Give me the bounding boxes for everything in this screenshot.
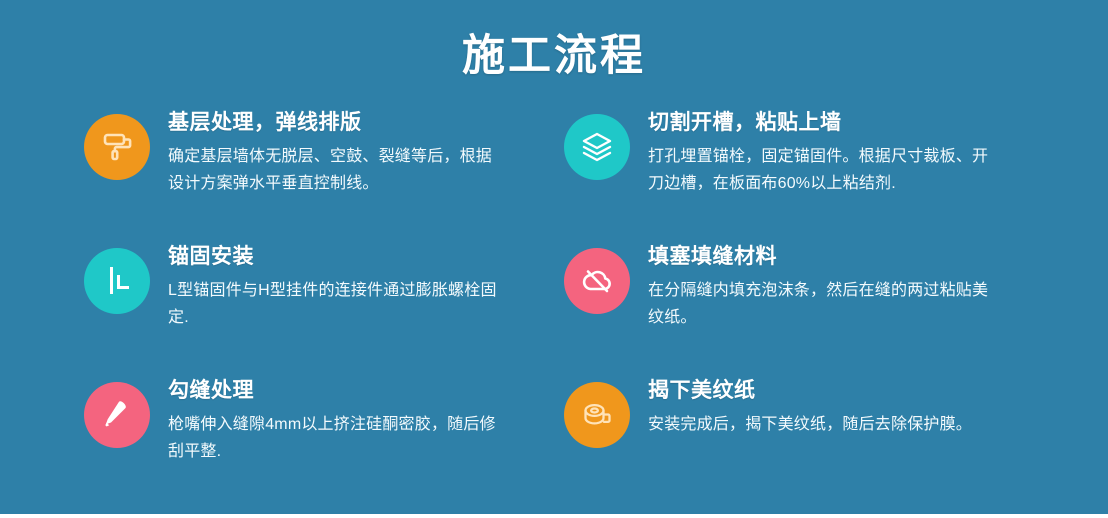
infographic-poster: 施工流程 基层处理，弹线排版 确定基层墙体无脱层、空鼓、裂缝等后，根据设计方案弹… (0, 0, 1108, 514)
step-2-desc: 打孔埋置锚栓，固定锚固件。根据尺寸裁板、开刀边槽，在板面布60%以上粘结剂. (648, 143, 998, 197)
layers-icon (578, 128, 616, 166)
step-5-text: 勾缝处理 枪嘴伸入缝隙4mm以上挤注硅酮密胶，随后修刮平整. (168, 376, 564, 465)
tape-roll-icon (578, 396, 616, 434)
step-4-desc: 在分隔缝内填充泡沫条，然后在缝的两过粘贴美纹纸。 (648, 277, 998, 331)
step-5-icon-badge (84, 382, 150, 448)
step-1-icon-badge (84, 114, 150, 180)
l-bracket-icon (98, 262, 136, 300)
step-5-desc: 枪嘴伸入缝隙4mm以上挤注硅酮密胶，随后修刮平整. (168, 411, 508, 465)
step-4-icon-badge (564, 248, 630, 314)
process-step-3: 锚固安装 L型锚固件与H型挂件的连接件通过膨胀螺栓固定. (84, 242, 564, 376)
process-step-2: 切割开槽，粘贴上墙 打孔埋置锚栓，固定锚固件。根据尺寸裁板、开刀边槽，在板面布6… (564, 108, 1044, 242)
paint-roller-icon (98, 128, 136, 166)
step-4-title: 填塞填缝材料 (648, 244, 1044, 270)
step-6-desc: 安装完成后，揭下美纹纸，随后去除保护膜。 (648, 411, 998, 438)
cloud-off-icon (578, 262, 616, 300)
step-3-title: 锚固安装 (168, 244, 564, 270)
step-1-title: 基层处理，弹线排版 (168, 110, 564, 136)
process-step-grid: 基层处理，弹线排版 确定基层墙体无脱层、空鼓、裂缝等后，根据设计方案弹水平垂直控… (84, 108, 1044, 510)
step-1-desc: 确定基层墙体无脱层、空鼓、裂缝等后，根据设计方案弹水平垂直控制线。 (168, 143, 508, 197)
step-4-text: 填塞填缝材料 在分隔缝内填充泡沫条，然后在缝的两过粘贴美纹纸。 (648, 242, 1044, 331)
process-step-4: 填塞填缝材料 在分隔缝内填充泡沫条，然后在缝的两过粘贴美纹纸。 (564, 242, 1044, 376)
step-3-icon-badge (84, 248, 150, 314)
process-step-1: 基层处理，弹线排版 确定基层墙体无脱层、空鼓、裂缝等后，根据设计方案弹水平垂直控… (84, 108, 564, 242)
process-step-5: 勾缝处理 枪嘴伸入缝隙4mm以上挤注硅酮密胶，随后修刮平整. (84, 376, 564, 510)
step-2-title: 切割开槽，粘贴上墙 (648, 110, 1044, 136)
page-title: 施工流程 (0, 28, 1108, 84)
step-3-desc: L型锚固件与H型挂件的连接件通过膨胀螺栓固定. (168, 277, 508, 331)
step-5-title: 勾缝处理 (168, 378, 564, 404)
step-6-title: 揭下美纹纸 (648, 378, 1044, 404)
bottom-white-strip (0, 514, 1108, 518)
step-6-text: 揭下美纹纸 安装完成后，揭下美纹纸，随后去除保护膜。 (648, 376, 1044, 438)
process-step-6: 揭下美纹纸 安装完成后，揭下美纹纸，随后去除保护膜。 (564, 376, 1044, 510)
caulk-gun-icon (98, 396, 136, 434)
step-3-text: 锚固安装 L型锚固件与H型挂件的连接件通过膨胀螺栓固定. (168, 242, 564, 331)
step-2-icon-badge (564, 114, 630, 180)
step-2-text: 切割开槽，粘贴上墙 打孔埋置锚栓，固定锚固件。根据尺寸裁板、开刀边槽，在板面布6… (648, 108, 1044, 197)
step-1-text: 基层处理，弹线排版 确定基层墙体无脱层、空鼓、裂缝等后，根据设计方案弹水平垂直控… (168, 108, 564, 197)
step-6-icon-badge (564, 382, 630, 448)
